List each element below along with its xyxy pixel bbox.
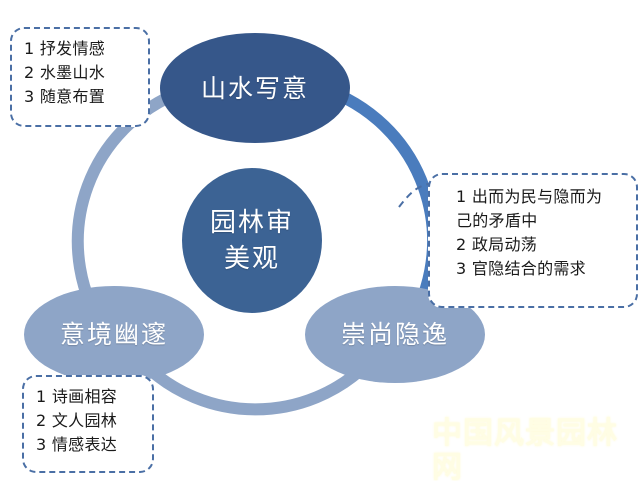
callout-yijing-youshui: 1 诗画相容 2 文人园林 3 情感表达 <box>22 375 154 473</box>
callout-item: 3 情感表达 <box>36 433 142 457</box>
callout-item: 2 文人园林 <box>36 409 142 433</box>
node-yijing-youshui[interactable]: 意境幽邃 <box>24 286 204 383</box>
node-label: 崇尚隐逸 <box>341 319 449 350</box>
callout-item: 3 官隐结合的需求 <box>442 257 626 281</box>
node-label: 意境幽邃 <box>60 319 168 350</box>
center-label-line1: 园林审 <box>210 208 294 238</box>
callout-chongshang-yinyi: 1 出而为民与隐而为 己的矛盾中 2 政局动荡 3 官隐结合的需求 <box>428 173 638 308</box>
node-shanshui-xieyi[interactable]: 山水写意 <box>160 33 350 143</box>
callout-item-cont: 己的矛盾中 <box>442 209 626 233</box>
callout-shanshui-xieyi: 1 抒发情感 2 水墨山水 3 随意布置 <box>10 27 150 127</box>
callout-item: 2 政局动荡 <box>442 233 626 257</box>
diagram-canvas: 山水写意 园林审 美观 意境幽邃 崇尚隐逸 1 抒发情感 2 水墨山水 3 随意… <box>0 0 641 481</box>
node-label: 山水写意 <box>201 73 309 104</box>
callout-item: 1 抒发情感 <box>24 37 138 61</box>
callout-item: 3 随意布置 <box>24 85 138 109</box>
callout-item: 2 水墨山水 <box>24 61 138 85</box>
node-center-yuanlin-shenmeiguan[interactable]: 园林审 美观 <box>182 168 322 313</box>
callout-item: 1 出而为民与隐而为 <box>442 185 626 209</box>
node-label: 园林审 美观 <box>210 205 294 277</box>
center-label-line2: 美观 <box>224 244 280 274</box>
callout-item: 1 诗画相容 <box>36 385 142 409</box>
